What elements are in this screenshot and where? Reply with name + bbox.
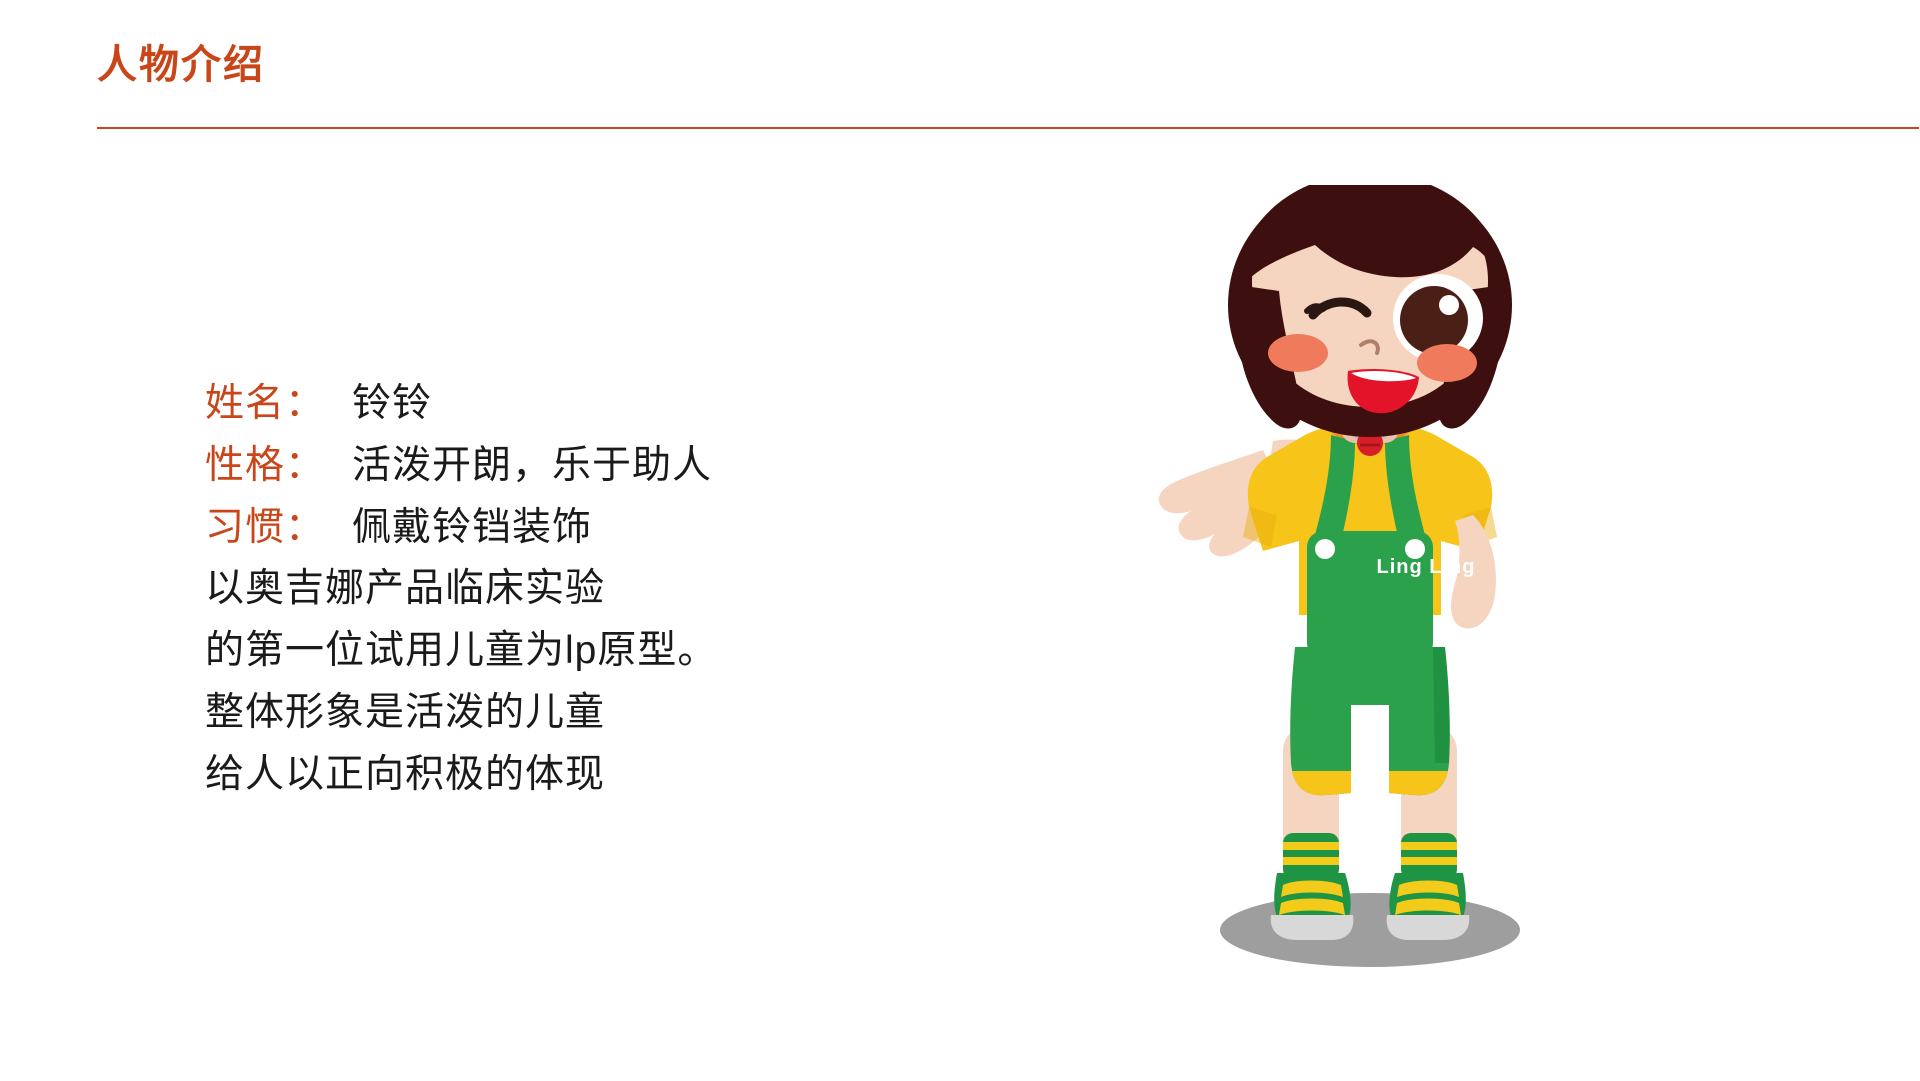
head [1228,185,1512,437]
overall-button-right [1405,539,1425,559]
info-label-name: 姓名： [205,372,340,428]
right-shoe [1387,873,1470,940]
description-line-3: 整体形象是活泼的儿童 [205,682,925,744]
info-row-name: 姓名： 铃铃 [205,372,925,434]
info-value-name: 铃铃 [352,372,432,428]
description-line-1: 以奥吉娜产品临床实验 [205,558,925,620]
overall-button-left [1315,539,1335,559]
socks [1283,833,1457,879]
character-info-block: 姓名： 铃铃 性格： 活泼开朗，乐于助人 习惯： 佩戴铃铛装饰 以奥吉娜产品临床… [205,372,925,806]
info-label-personality: 性格： [205,434,340,490]
ground-shadow-ellipse [1220,893,1520,967]
description-line-2: 的第一位试用儿童为lp原型。 [205,620,925,682]
info-label-habit: 习惯： [205,496,340,552]
info-value-habit: 佩戴铃铛装饰 [352,496,592,552]
left-shoe [1271,873,1354,940]
character-illustration [1155,185,1585,975]
title-divider [97,127,1919,129]
description-line-4: 给人以正向积极的体现 [205,744,925,806]
cheek-left [1268,334,1328,372]
info-row-habit: 习惯： 佩戴铃铛装饰 [205,496,925,558]
page-title: 人物介绍 [97,45,265,85]
info-value-personality: 活泼开朗，乐于助人 [352,434,712,490]
info-row-personality: 性格： 活泼开朗，乐于助人 [205,434,925,496]
cheek-right [1417,344,1477,382]
